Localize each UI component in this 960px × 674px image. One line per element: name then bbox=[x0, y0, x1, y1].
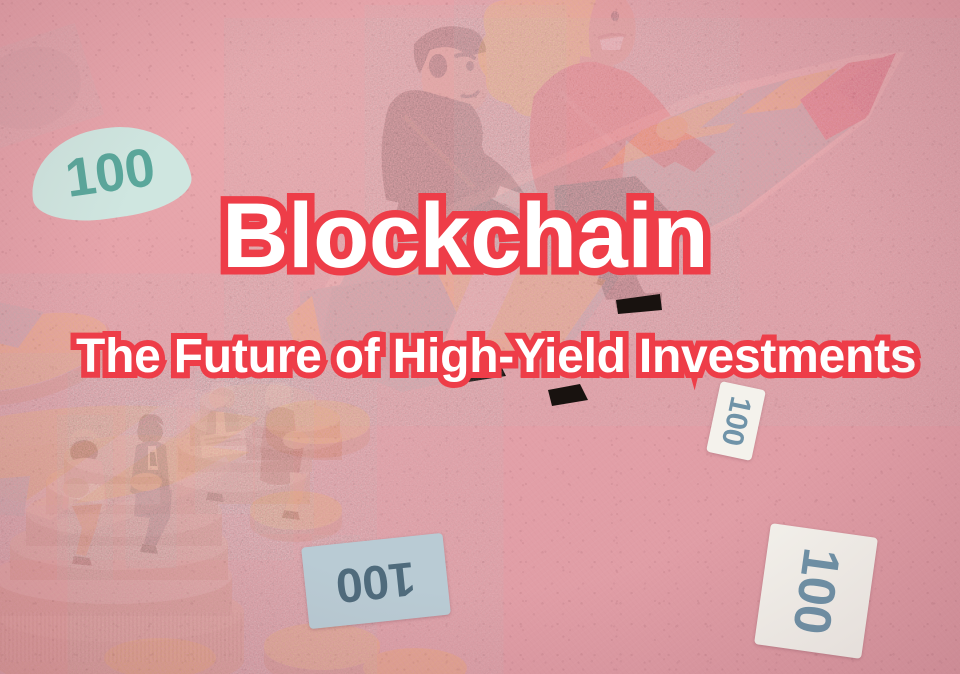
banknote-value: 100 bbox=[62, 136, 159, 210]
banknote-icon: 100 bbox=[754, 523, 878, 659]
banknote-value: 100 bbox=[334, 550, 418, 613]
banknote-icon: 100 bbox=[301, 533, 451, 629]
coin-icon-grey-topleft bbox=[0, 34, 92, 142]
banknote-value: 100 bbox=[714, 393, 757, 448]
banknote-value: 100 bbox=[780, 544, 851, 637]
poster-canvas: 100100100100 Blockchain The Future of Hi… bbox=[0, 0, 960, 674]
